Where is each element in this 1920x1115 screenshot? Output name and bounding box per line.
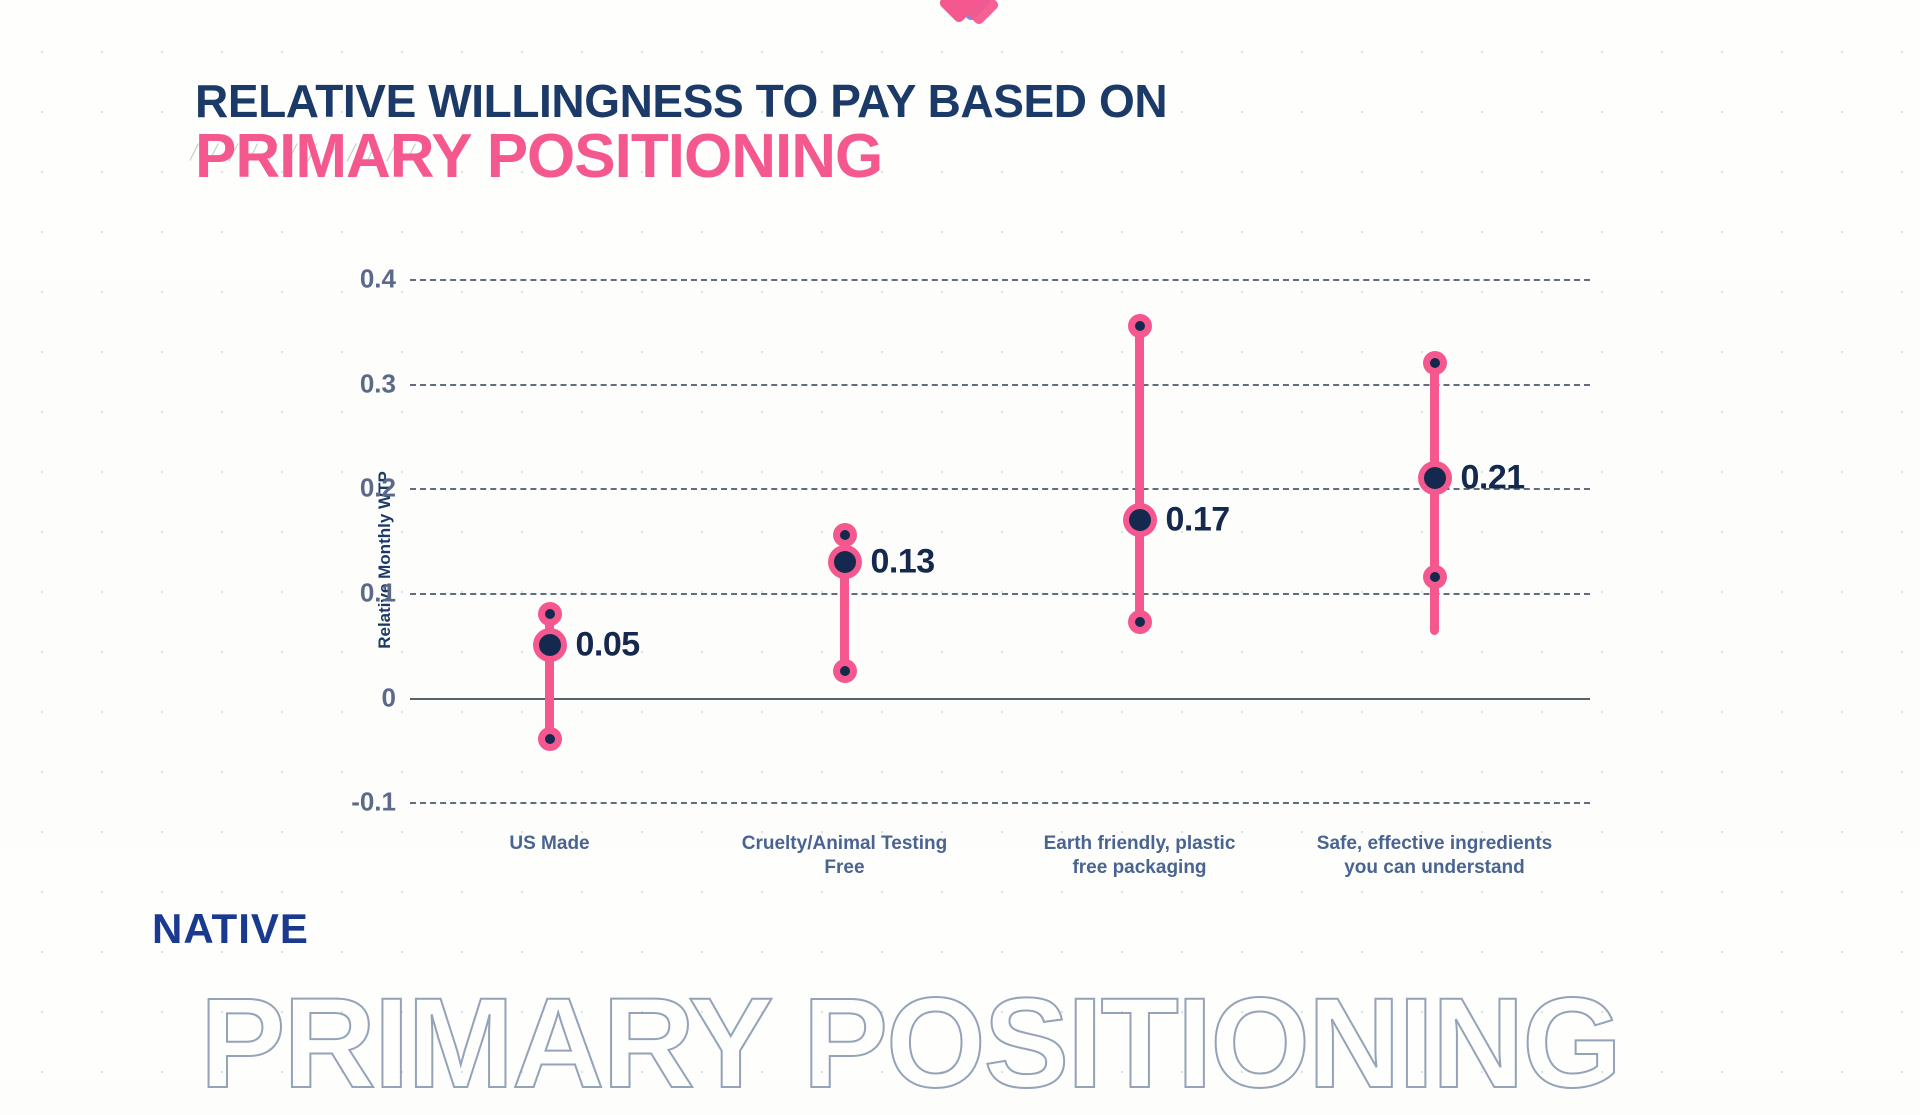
x-axis-category-line: US Made [509,833,589,854]
data-point[interactable] [828,545,862,579]
error-bar-cap-upper [1423,351,1447,375]
x-axis-category-line: you can understand [1344,857,1525,878]
y-axis-tick-label: 0.2 [360,473,396,504]
x-axis-category-line: free packaging [1072,857,1206,878]
x-axis-category-line: Free [824,857,864,878]
x-axis-category-line: Cruelty/Animal Testing [742,833,948,854]
page-title: RELATIVE WILLINGNESS TO PAY BASED ON PRI… [195,78,1495,188]
gridline [410,384,1590,386]
data-point[interactable] [533,628,567,662]
data-point[interactable] [1418,461,1452,495]
data-point-value-label: 0.21 [1461,458,1525,497]
x-axis-category-label: Earth friendly, plasticfree packaging [1005,832,1275,881]
error-bar-cap-lower [833,659,857,683]
outline-headline: PRIMARY POSITIONING [200,980,1920,1108]
x-axis-category-line: Earth friendly, plastic [1044,833,1236,854]
chart-container: Relative Monthly WTP 0.40.30.20.10-0.10.… [300,240,1590,880]
x-axis-category-label: Safe, effective ingredientsyou can under… [1300,832,1570,881]
gridline [410,593,1590,595]
x-axis-category-label: US Made [415,832,685,856]
plot-area: 0.40.30.20.10-0.10.05US Made0.13Cruelty/… [410,258,1590,818]
y-axis-tick-label: 0 [382,682,396,713]
data-point-value-label: 0.05 [576,626,640,665]
gridline [410,488,1590,490]
gridline [410,279,1590,281]
title-line-2: PRIMARY POSITIONING [195,126,1495,188]
decorative-diamond-mark [940,0,1004,28]
native-logo: NATIVE [152,905,309,953]
error-bar-cap-upper [538,602,562,626]
title-line-1: RELATIVE WILLINGNESS TO PAY BASED ON [195,78,1495,124]
y-axis-tick-label: 0.3 [360,368,396,399]
data-point-value-label: 0.17 [1166,500,1230,539]
error-bar-cap-upper [833,523,857,547]
zero-line [410,698,1590,700]
y-axis-tick-label: -0.1 [351,787,396,818]
error-bar-cap-lower [1128,610,1152,634]
y-axis-tick-label: 0.4 [360,263,396,294]
error-bar-cap-lower [1423,565,1447,589]
error-bar [1430,363,1439,635]
y-axis-tick-label: 0.1 [360,577,396,608]
x-axis-category-line: Safe, effective ingredients [1317,833,1552,854]
error-bar-cap-upper [1128,314,1152,338]
data-point-value-label: 0.13 [871,542,935,581]
error-bar-cap-lower [538,727,562,751]
error-bar [1135,326,1144,622]
data-point[interactable] [1123,503,1157,537]
gridline [410,802,1590,804]
x-axis-category-label: Cruelty/Animal TestingFree [710,832,980,881]
